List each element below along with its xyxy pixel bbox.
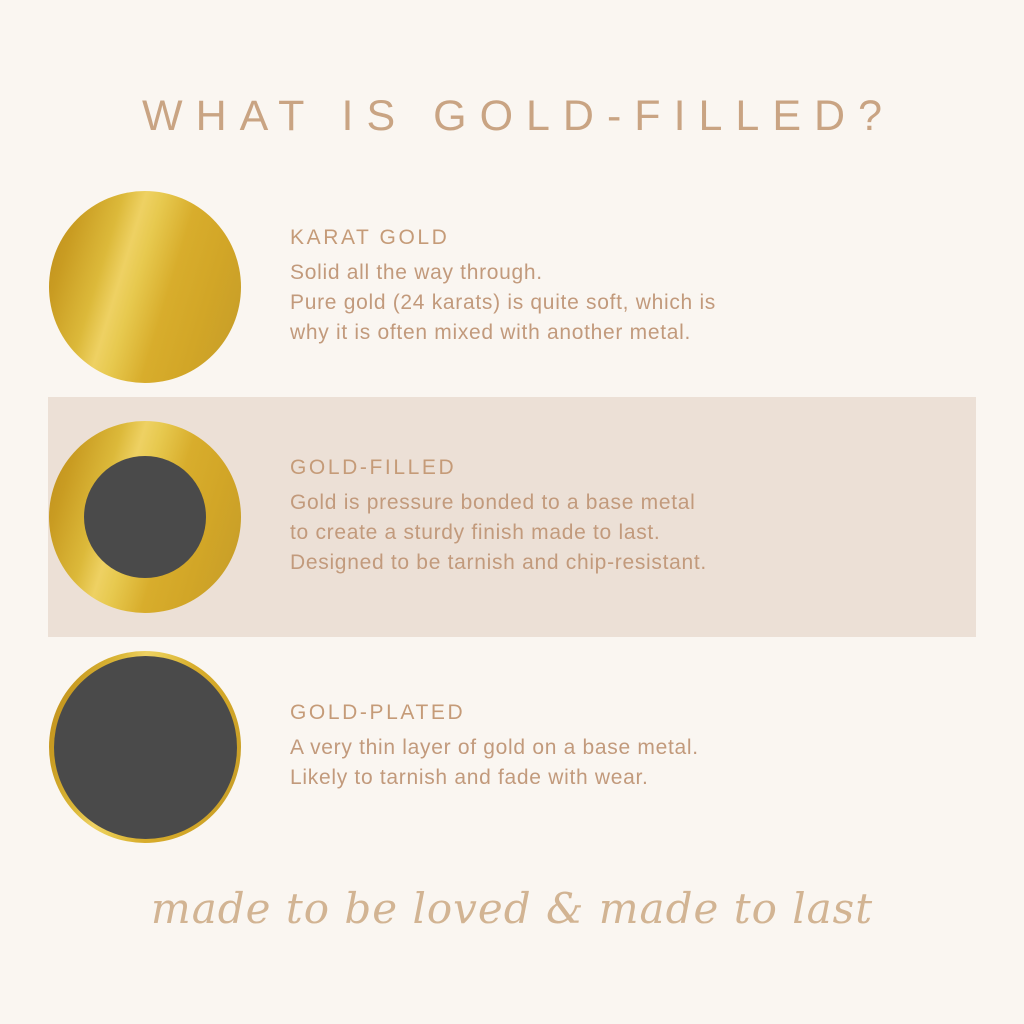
gold-plated-line-1: A very thin layer of gold on a base meta… <box>290 733 964 763</box>
gold-plated-line-2: Likely to tarnish and fade with wear. <box>290 763 964 793</box>
gold-plated-icon-cell <box>0 647 290 847</box>
row-gold-filled: GOLD-FILLED Gold is pressure bonded to a… <box>0 417 1024 617</box>
footer-tagline: made to be loved & made to last <box>0 884 1024 933</box>
gold-filled-line-3: Designed to be tarnish and chip-resistan… <box>290 548 964 578</box>
karat-gold-text-cell: KARAT GOLD Solid all the way through. Pu… <box>290 226 1024 348</box>
gold-filled-heading: GOLD-FILLED <box>290 456 964 480</box>
page-title: WHAT IS GOLD-FILLED? <box>0 92 1024 141</box>
gold-filled-line-1: Gold is pressure bonded to a base metal <box>290 488 964 518</box>
row-karat-gold: KARAT GOLD Solid all the way through. Pu… <box>0 187 1024 387</box>
karat-gold-line-3: why it is often mixed with another metal… <box>290 318 964 348</box>
gold-filled-icon-cell <box>0 417 290 617</box>
solid-gold-disc-icon <box>49 191 241 383</box>
gold-plated-heading: GOLD-PLATED <box>290 701 964 725</box>
base-metal-core <box>54 656 237 839</box>
infographic-canvas: WHAT IS GOLD-FILLED? KARAT GOLD Solid al… <box>0 0 1024 1024</box>
karat-gold-icon-cell <box>0 187 290 387</box>
gold-filled-line-2: to create a sturdy finish made to last. <box>290 518 964 548</box>
karat-gold-line-1: Solid all the way through. <box>290 258 964 288</box>
row-gold-plated: GOLD-PLATED A very thin layer of gold on… <box>0 647 1024 847</box>
gold-plated-text-cell: GOLD-PLATED A very thin layer of gold on… <box>290 701 1024 793</box>
base-metal-core <box>84 456 206 578</box>
karat-gold-line-2: Pure gold (24 karats) is quite soft, whi… <box>290 288 964 318</box>
gold-filled-text-cell: GOLD-FILLED Gold is pressure bonded to a… <box>290 456 1024 578</box>
karat-gold-heading: KARAT GOLD <box>290 226 964 250</box>
thick-gold-ring-disc-icon <box>49 421 241 613</box>
thin-gold-ring-disc-icon <box>49 651 241 843</box>
